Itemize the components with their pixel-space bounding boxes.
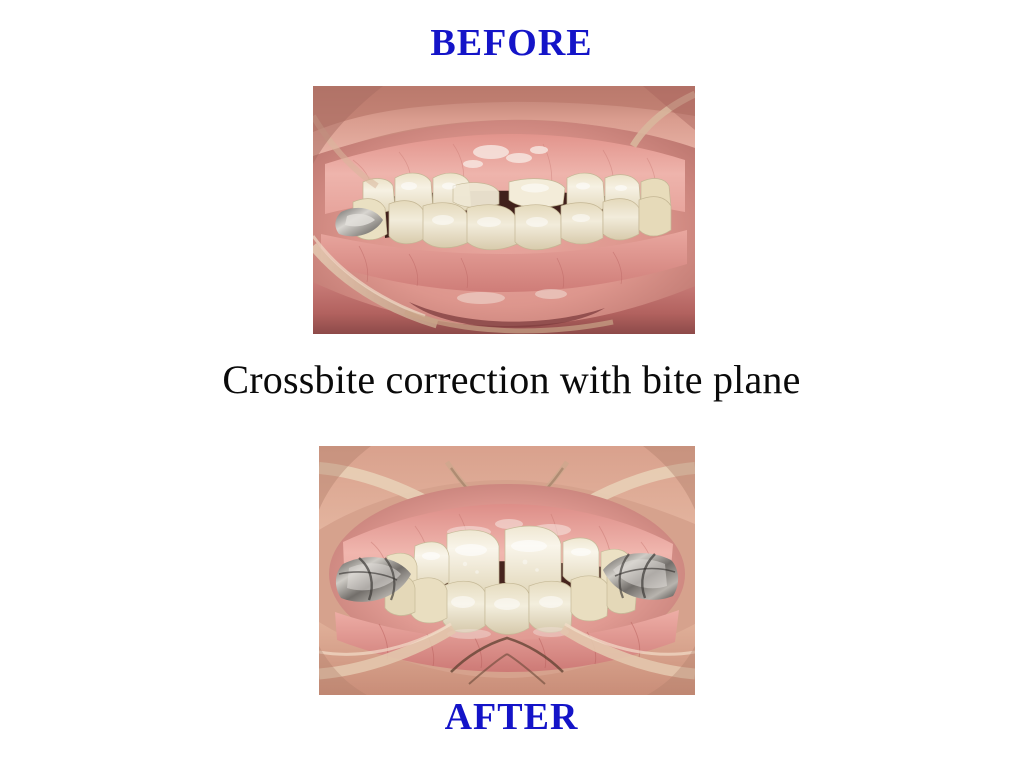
label-before: BEFORE: [0, 24, 1023, 62]
intraoral-photo-after: [319, 446, 695, 695]
slide-caption: Crossbite correction with bite plane: [0, 358, 1023, 402]
photo-after-graphic: [319, 446, 695, 695]
photo-before-graphic: [313, 86, 695, 334]
slide-root: BEFORE: [0, 0, 1023, 783]
intraoral-photo-before: [313, 86, 695, 334]
label-after: AFTER: [0, 698, 1023, 736]
